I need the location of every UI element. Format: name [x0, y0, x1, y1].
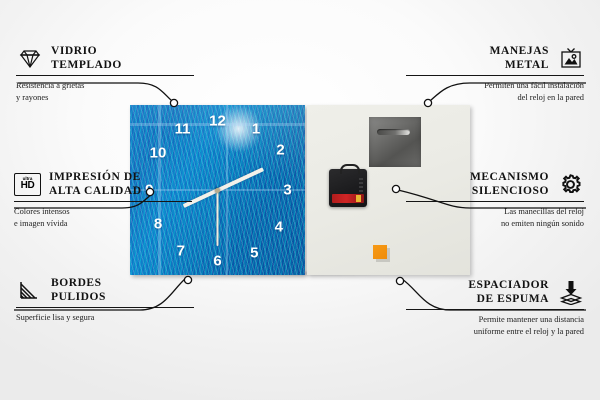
feature-rule	[406, 309, 584, 310]
mechanism-loop	[340, 164, 360, 174]
feature-title: IMPRESIÓN DEALTA CALIDAD	[49, 170, 142, 198]
feature-head: BORDESPULIDOS	[16, 276, 194, 304]
ultra-hd-icon: ultra HD	[14, 171, 41, 197]
clock-numeral-7: 7	[177, 244, 185, 259]
feature-desc: Permiten una fácil instalacióndel reloj …	[406, 80, 584, 103]
clock-numeral-2: 2	[276, 143, 284, 158]
feature-desc: Colores intensose imagen vívida	[14, 206, 192, 229]
feature-mecanismo-silencioso[interactable]: MECANISMOSILENCIOSO Las manecillas del r…	[406, 170, 584, 229]
feature-title: BORDESPULIDOS	[51, 276, 106, 304]
battery-part	[332, 194, 364, 203]
clock-numeral-4: 4	[275, 220, 283, 235]
polished-edge-icon	[16, 277, 43, 303]
feature-desc: Superficie lisa y segura	[16, 312, 194, 324]
feature-manejas-metal[interactable]: MANEJASMETAL Permiten una fácil instalac…	[406, 44, 584, 103]
feature-rule	[16, 75, 194, 76]
clock-numeral-3: 3	[283, 183, 291, 198]
clock-numeral-1: 1	[252, 122, 260, 137]
clock-numeral-12: 12	[209, 114, 226, 129]
feature-rule	[406, 201, 584, 202]
metal-hanger-part	[369, 117, 421, 167]
feature-vidrio-templado[interactable]: VIDRIOTEMPLADO Resistencia a grietasy ra…	[16, 44, 194, 103]
feature-head: MECANISMOSILENCIOSO	[406, 170, 584, 198]
feature-title: MECANISMOSILENCIOSO	[470, 170, 549, 198]
feature-title: ESPACIADORDE ESPUMA	[468, 278, 549, 306]
clock-numeral-11: 11	[175, 121, 191, 136]
feature-desc: Permite mantener una distanciauniforme e…	[406, 314, 584, 337]
picture-hanger-icon	[557, 45, 584, 71]
feature-head: MANEJASMETAL	[406, 44, 584, 72]
feature-title: VIDRIOTEMPLADO	[51, 44, 122, 72]
foam-spacer-part	[373, 245, 387, 259]
feature-rule	[16, 307, 194, 308]
feature-espaciador-espuma[interactable]: ESPACIADORDE ESPUMA Permite mantener una…	[406, 278, 584, 337]
feature-bordes-pulidos[interactable]: BORDESPULIDOS Superficie lisa y segura	[16, 276, 194, 324]
feature-desc: Resistencia a grietasy rayones	[16, 80, 194, 103]
hanger-slot	[377, 129, 410, 135]
gear-icon	[557, 171, 584, 197]
feature-rule	[406, 75, 584, 76]
feature-desc: Las manecillas del relojno emiten ningún…	[406, 206, 584, 229]
mechanism-vents	[359, 178, 363, 192]
foam-spacer-icon	[557, 279, 584, 305]
feature-title: MANEJASMETAL	[490, 44, 549, 72]
feature-rule	[14, 201, 192, 202]
infographic-stage: 12 1 2 3 4 5 6 7 8 9 10 11	[0, 0, 600, 400]
feature-impresion-alta-calidad[interactable]: ultra HD IMPRESIÓN DEALTA CALIDAD Colore…	[14, 170, 192, 229]
clock-numeral-10: 10	[150, 145, 167, 160]
clock-second-hand	[217, 190, 219, 246]
clock-numeral-5: 5	[250, 245, 258, 260]
feature-head: ultra HD IMPRESIÓN DEALTA CALIDAD	[14, 170, 192, 198]
feature-head: ESPACIADORDE ESPUMA	[406, 278, 584, 306]
feature-head: VIDRIOTEMPLADO	[16, 44, 194, 72]
diamond-icon	[16, 45, 43, 71]
clock-mechanism-part	[329, 169, 367, 207]
clock-center-pivot	[215, 188, 220, 193]
clock-numeral-6: 6	[213, 254, 221, 269]
